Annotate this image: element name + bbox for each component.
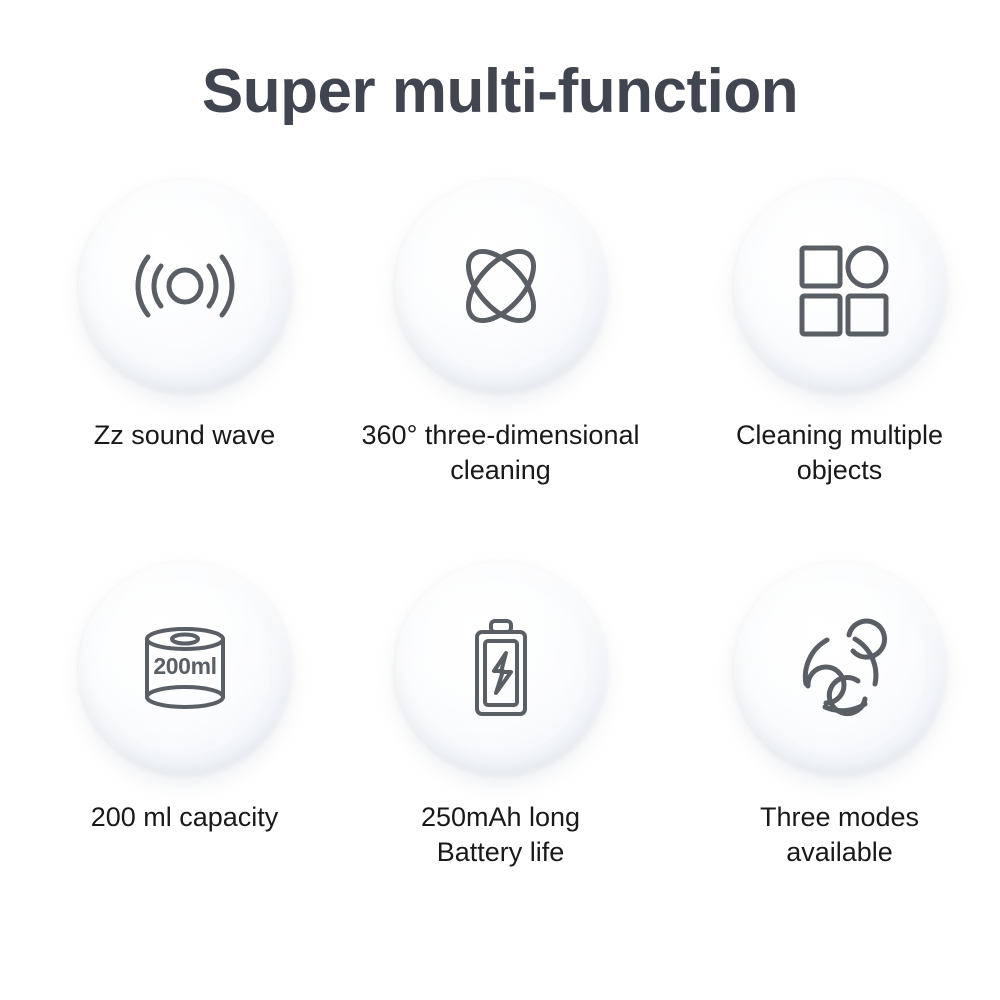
feature-caption: 250mAh long Battery life <box>334 800 667 869</box>
tank-capacity-icon: 200ml <box>125 608 245 728</box>
feature-disc <box>395 562 607 774</box>
feature-caption: Three modes available <box>673 800 1000 869</box>
feature-item-sound-wave: Zz sound wave <box>18 180 351 453</box>
feature-item-multiple-objects: Cleaning multiple objects <box>673 180 1000 487</box>
feature-caption: 200 ml capacity <box>18 800 351 835</box>
feature-disc <box>734 562 946 774</box>
feature-disc <box>79 180 291 392</box>
sound-wave-icon <box>125 226 245 346</box>
feature-caption: Cleaning multiple objects <box>673 418 1000 487</box>
feature-item-battery: 250mAh long Battery life <box>334 562 667 869</box>
feature-item-capacity: 200ml 200 ml capacity <box>18 562 351 835</box>
orbit-crossing-ellipses-icon <box>441 226 561 346</box>
battery-bolt-icon <box>441 608 561 728</box>
feature-grid: Zz sound wave 360° three-dimensional cle… <box>0 180 1000 940</box>
feature-disc: 200ml <box>79 562 291 774</box>
feature-item-three-modes: Three modes available <box>673 562 1000 869</box>
feature-infographic-page: Super multi-function Zz sound wave <box>0 0 1000 1000</box>
feature-caption: 360° three-dimensional cleaning <box>334 418 667 487</box>
feature-disc <box>734 180 946 392</box>
feature-item-three-dimensional: 360° three-dimensional cleaning <box>334 180 667 487</box>
shapes-grid-icon <box>780 226 900 346</box>
page-title: Super multi-function <box>0 56 1000 127</box>
three-modes-cycle-icon <box>780 608 900 728</box>
tank-capacity-label: 200ml <box>153 653 216 679</box>
feature-caption: Zz sound wave <box>18 418 351 453</box>
feature-disc <box>395 180 607 392</box>
